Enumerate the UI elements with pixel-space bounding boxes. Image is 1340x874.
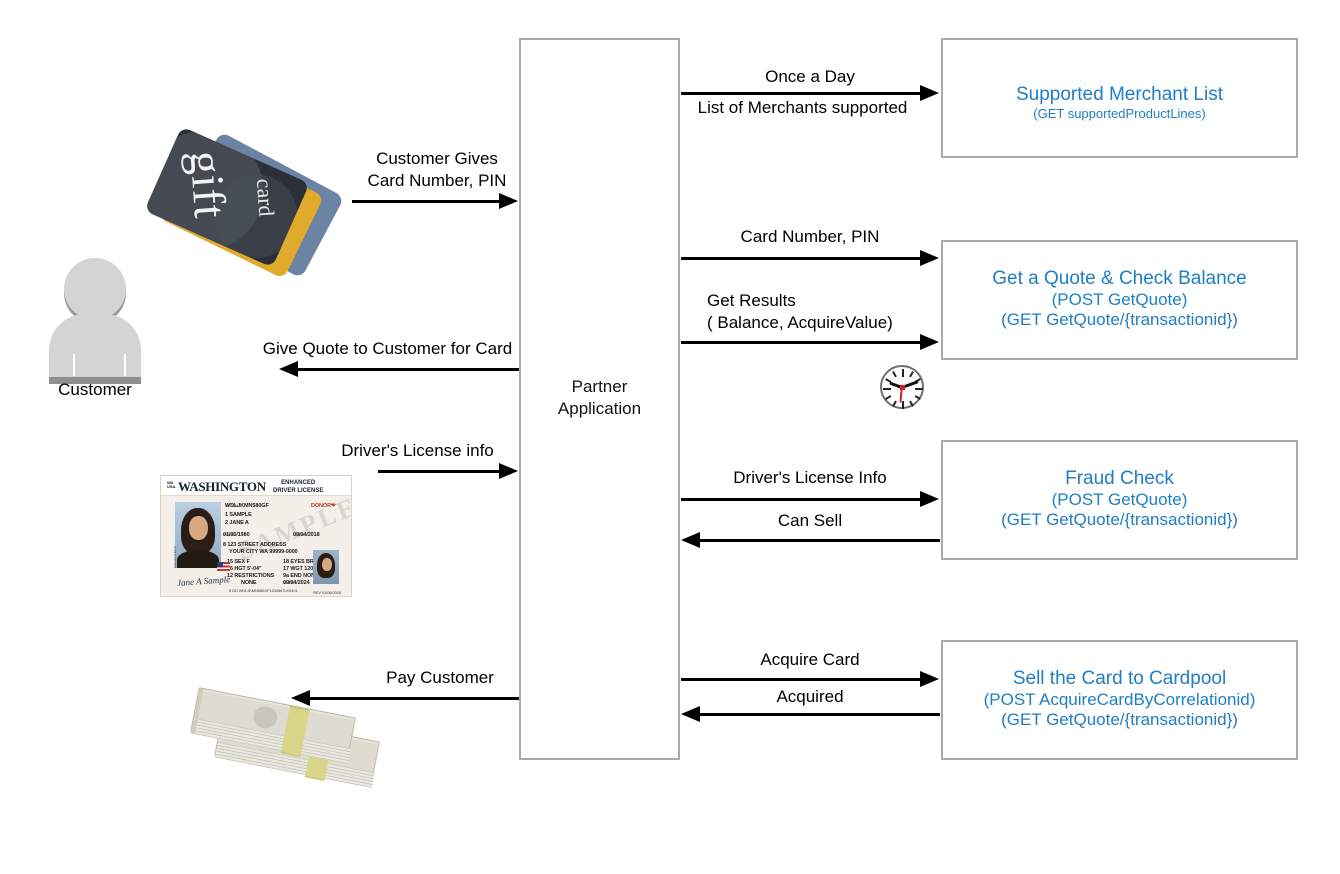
- service-box-sell-card-to-cardpool[interactable]: Sell the Card to Cardpool (POST AcquireC…: [941, 640, 1298, 760]
- flow-arrow-get-results-line: [681, 341, 922, 344]
- flow-label-once-a-day: Once a Day: [680, 66, 940, 87]
- flow-label-acquired: Acquired: [680, 686, 940, 707]
- license-document-type: ENHANCED DRIVER LICENSE: [273, 480, 323, 495]
- money-image: [185, 690, 400, 800]
- flow-arrow-can-sell-head: [681, 532, 700, 548]
- flow-arrow-give-quote-head: [279, 361, 298, 377]
- service-box-get-quote-check-balance[interactable]: Get a Quote & Check Balance (POST GetQuo…: [941, 240, 1298, 360]
- service-title-sell-card-to-cardpool: Sell the Card to Cardpool: [943, 668, 1296, 690]
- flow-arrow-once-a-day-line: [681, 92, 922, 95]
- license-last-name: 1 SAMPLE: [225, 512, 252, 518]
- flow-arrow-acquire-card-head: [920, 671, 939, 687]
- flow-label-give-quote-to-customer: Give Quote to Customer for Card: [255, 338, 520, 359]
- flow-label-get-results-line2: ( Balance, AcquireValue): [707, 312, 967, 333]
- service-title-supported-merchant-list: Supported Merchant List: [943, 84, 1296, 106]
- flow-label-list-of-merchants-supported: List of Merchants supported: [680, 97, 925, 118]
- service-endpoint-supported-product-lines: (GET supportedProductLines): [943, 106, 1296, 121]
- gift-card-word-gift: gift: [179, 149, 237, 220]
- license-portrait-face: [189, 516, 208, 540]
- flow-arrow-pay-customer-line: [310, 697, 519, 700]
- service-box-supported-merchant-list[interactable]: Supported Merchant List (GET supportedPr…: [941, 38, 1298, 158]
- license-restrictions-value: NONE: [241, 580, 257, 586]
- service-endpoint-post-getquote: (POST GetQuote): [943, 290, 1296, 310]
- flow-label-drivers-license-info-out: Driver's License Info: [680, 467, 940, 488]
- service-endpoint-get-getquote-transactionid: (GET GetQuote/{transactionid}): [943, 310, 1296, 330]
- customer-body-notch-right: [124, 354, 126, 376]
- license-photo-sidebar-text: COLOR PHOTO: [173, 546, 177, 568]
- license-first-name: 2 JANE A: [225, 520, 249, 526]
- flow-arrow-pay-customer-head: [291, 690, 310, 706]
- diagram-canvas: Partner Application Supported Merchant L…: [0, 0, 1340, 874]
- license-portrait-shoulders: [177, 550, 219, 568]
- service-box-fraud-check[interactable]: Fraud Check (POST GetQuote) (GET GetQuot…: [941, 440, 1298, 560]
- flow-arrow-card-number-pin-head: [920, 250, 939, 266]
- license-state-name: WASHINGTON: [178, 479, 266, 495]
- license-ghost-face: [322, 558, 332, 571]
- customer-head-icon: [64, 258, 126, 320]
- service-title-fraud-check: Fraud Check: [943, 468, 1296, 490]
- license-portrait-photo: [175, 502, 221, 568]
- flow-arrow-drivers-license-in-line: [378, 470, 500, 473]
- flow-label-acquire-card: Acquire Card: [680, 649, 940, 670]
- flow-arrow-drivers-license-out-line: [681, 498, 922, 501]
- flow-label-get-results-line1: Get Results: [707, 290, 967, 311]
- partner-application-label-line1: Partner: [521, 376, 678, 398]
- flow-arrow-acquired-line: [700, 713, 940, 716]
- service-endpoint-fraud-get-getquote-transactionid: (GET GetQuote/{transactionid}): [943, 510, 1296, 530]
- service-title-get-quote-check-balance: Get a Quote & Check Balance: [943, 268, 1296, 290]
- license-revision: REV 01/06/2018: [313, 590, 341, 595]
- flow-arrow-customer-gives-line: [352, 200, 500, 203]
- flow-label-customer-gives-line1: Customer Gives: [352, 148, 522, 169]
- flow-arrow-card-number-pin-line: [681, 257, 922, 260]
- partner-application-label-line2: Application: [521, 398, 678, 420]
- customer-body-icon: [49, 314, 141, 384]
- flow-label-pay-customer: Pay Customer: [360, 667, 520, 688]
- flow-label-can-sell: Can Sell: [680, 510, 940, 531]
- license-signature: Jane A Sample: [177, 574, 231, 588]
- flow-label-customer-gives-line2: Card Number, PIN: [352, 170, 522, 191]
- flow-arrow-drivers-license-out-head: [920, 491, 939, 507]
- license-ghost-portrait: [313, 550, 339, 584]
- license-expiration: 4b EXP 09/04/2024: [283, 580, 310, 586]
- license-height: 16 HGT 5'-04": [227, 566, 261, 572]
- clock-icon: [880, 365, 924, 409]
- flow-arrow-can-sell-line: [700, 539, 940, 542]
- gift-card-word-card: card: [251, 178, 280, 218]
- clock-center-pin: [900, 385, 905, 390]
- gift-card-image: gift card: [155, 145, 355, 280]
- license-dln: 4d DLN WDLJKMN580GF: [225, 503, 269, 509]
- flow-label-drivers-license-info-in: Driver's License info: [315, 440, 520, 461]
- drivers-license-image: WA USA WASHINGTON ENHANCED DRIVER LICENS…: [160, 475, 352, 597]
- service-endpoint-fraud-post-getquote: (POST GetQuote): [943, 490, 1296, 510]
- flow-arrow-give-quote-line: [298, 368, 519, 371]
- license-wa-usa-mark: WA USA: [167, 481, 175, 489]
- flow-arrow-customer-gives-head: [499, 193, 518, 209]
- license-restrictions-label: 12 RESTRICTIONS: [227, 573, 274, 579]
- license-barcode-text: 5 DD WDLJKMN580GF1234567LK9101: [229, 588, 298, 593]
- customer-actor: [40, 258, 150, 398]
- customer-caption: Customer: [20, 380, 170, 400]
- flow-arrow-drivers-license-in-head: [499, 463, 518, 479]
- partner-application-box[interactable]: Partner Application: [519, 38, 680, 760]
- service-endpoint-post-acquirecardbycorrelationid: (POST AcquireCardByCorrelationid): [943, 690, 1296, 710]
- flow-arrow-acquire-card-line: [681, 678, 922, 681]
- flow-label-card-number-pin: Card Number, PIN: [680, 226, 940, 247]
- flow-arrow-get-results-head: [920, 334, 939, 350]
- service-endpoint-sell-get-getquote-transactionid: (GET GetQuote/{transactionid}): [943, 710, 1296, 730]
- flow-arrow-acquired-head: [681, 706, 700, 722]
- customer-body-notch-left: [73, 354, 75, 376]
- license-us-flag-icon: [217, 562, 230, 571]
